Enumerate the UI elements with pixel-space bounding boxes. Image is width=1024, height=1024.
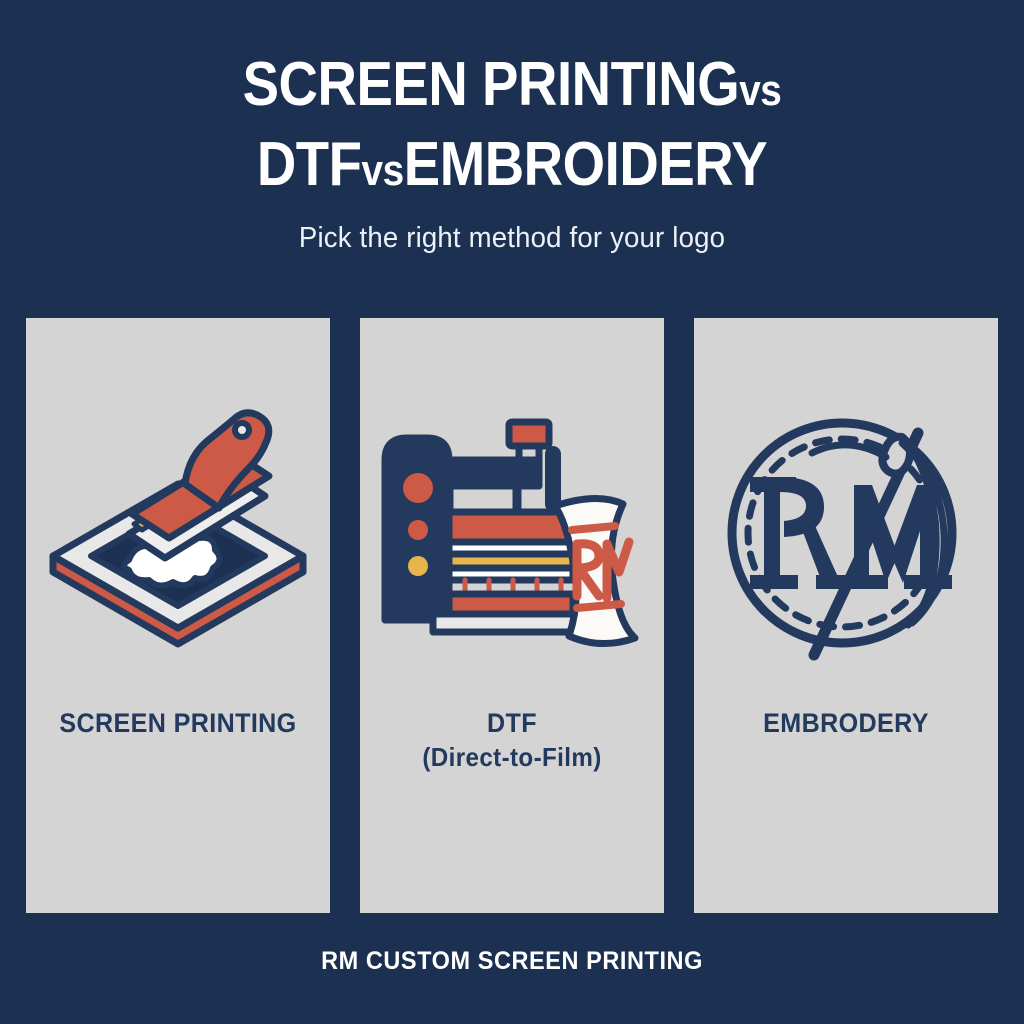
panel-dtf[interactable]: DTF (Direct-to-Film): [360, 318, 664, 913]
title-vs-1: vs: [739, 66, 781, 115]
page-title-line-1: SCREEN PRINTINGvs: [61, 48, 962, 128]
panel-screen-printing[interactable]: SCREEN PRINTING: [26, 318, 330, 913]
panel-label-embroidery: EMBRODERY: [705, 706, 988, 740]
panel-label-screen-printing: SCREEN PRINTING: [37, 706, 320, 740]
title-main-text: SCREEN PRINTING: [243, 50, 740, 119]
page-title-line-2: DTFvsEMBROIDERY: [61, 128, 962, 208]
header: SCREEN PRINTINGvs DTFvsEMBROIDERY Pick t…: [0, 48, 1024, 255]
comparison-panels: SCREEN PRINTING: [26, 318, 998, 913]
panel-label-dtf: DTF (Direct-to-Film): [371, 706, 654, 774]
page-subtitle: Pick the right method for your logo: [26, 222, 999, 255]
title-vs-2: vs: [362, 146, 404, 195]
embroidery-hoop-needle-icon: [694, 318, 998, 748]
infographic-canvas: SCREEN PRINTINGvs DTFvsEMBROIDERY Pick t…: [0, 0, 1024, 1024]
footer-brand: RM CUSTOM SCREEN PRINTING: [31, 947, 994, 976]
panel-sublabel-text: (Direct-to-Film): [371, 740, 654, 774]
panel-label-text: EMBRODERY: [705, 706, 988, 740]
panel-label-text: DTF: [371, 706, 654, 740]
screen-printing-squeegee-icon: [26, 318, 330, 748]
title-embroidery-text: EMBROIDERY: [404, 130, 767, 199]
dtf-printer-film-icon: [360, 318, 664, 748]
panel-embroidery[interactable]: EMBRODERY: [694, 318, 998, 913]
title-dtf-text: DTF: [257, 130, 362, 199]
panel-label-text: SCREEN PRINTING: [37, 706, 320, 740]
